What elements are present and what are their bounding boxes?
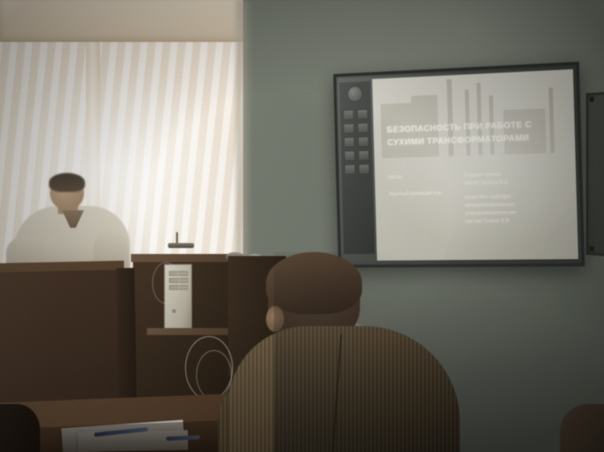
board-button[interactable]: [358, 150, 370, 161]
pc-power-led: [172, 309, 176, 313]
board-button-row[interactable]: [343, 109, 369, 121]
board-corner-bracket: [590, 246, 594, 251]
board-button-row[interactable]: [343, 122, 369, 134]
presenter-hair: [49, 173, 85, 192]
wall-corner-shadow: [274, 252, 604, 452]
board-button[interactable]: [357, 122, 369, 133]
slide-author-value-line-2: 46ЕМ Голубев В.А.: [464, 178, 570, 189]
slide-body-values: Студент группы 46ЕМ Голубев В.А. ассисте…: [464, 170, 571, 226]
board-dial-knob[interactable]: [347, 85, 363, 102]
board-button-strip[interactable]: [339, 81, 375, 254]
cable-loop: [152, 262, 180, 304]
desk-device: [168, 243, 194, 248]
photograph: БЕЗОПАСНОСТЬ ПРИ РАБОТЕ С СУХИМИ ТРАНСФО…: [0, 0, 604, 452]
board-button[interactable]: [343, 109, 355, 120]
board-button[interactable]: [358, 164, 370, 175]
board-button-row[interactable]: [344, 164, 370, 175]
slide-body-labels: Автор: Научный руководитель:: [388, 173, 459, 227]
slide-supervisor-value-line-4: систем Гуляев В.В.: [465, 217, 571, 227]
board-button[interactable]: [358, 136, 370, 147]
board-button[interactable]: [357, 109, 369, 120]
secondary-board: [586, 91, 604, 258]
slide-author-label: Автор:: [388, 173, 458, 183]
slide-supervisor-label: Научный руководитель:: [389, 190, 459, 199]
projected-slide: БЕЗОПАСНОСТЬ ПРИ РАБОТЕ С СУХИМИ ТРАНСФО…: [372, 69, 578, 260]
board-button[interactable]: [343, 137, 355, 148]
interactive-whiteboard[interactable]: БЕЗОПАСНОСТЬ ПРИ РАБОТЕ С СУХИМИ ТРАНСФО…: [333, 62, 585, 268]
board-button[interactable]: [344, 150, 356, 161]
board-button[interactable]: [343, 123, 355, 134]
board-corner-bracket: [590, 97, 594, 102]
slide-body: Автор: Научный руководитель: Студент гру…: [388, 170, 571, 227]
board-button-row[interactable]: [343, 136, 369, 148]
projector-hotspot: [372, 69, 578, 260]
board-button[interactable]: [344, 164, 356, 175]
board-button-row[interactable]: [344, 150, 370, 162]
desk-antenna: [176, 232, 178, 244]
